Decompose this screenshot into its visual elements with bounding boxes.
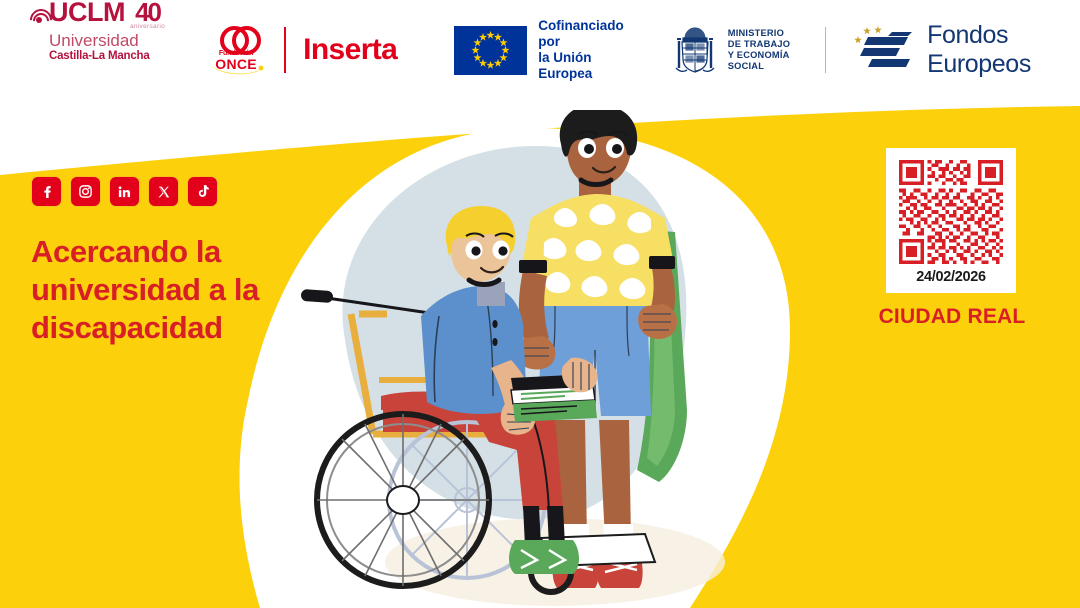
logo-ministerio-trabajo: MINISTERIO DE TRABAJO Y ECONOMÍA SOCIAL	[671, 0, 826, 100]
social-linkedin-link[interactable]	[109, 176, 140, 207]
logo-fundacion-once: Fundación ONCE	[205, 26, 267, 74]
logo-uclm: UCLM 40 aniversario Universidad Castilla…	[31, 0, 165, 100]
fondos-europeos-bars-icon	[852, 26, 914, 74]
event-city: CIUDAD REAL	[872, 305, 1032, 329]
divider-once-inserta	[284, 27, 286, 73]
page-headline: Acercando la universidad a la discapacid…	[31, 233, 291, 347]
ministerio-line3: Y ECONOMÍA SOCIAL	[728, 50, 803, 72]
logo-union-europea: Cofinanciado por la Unión Europea	[454, 0, 624, 100]
divider-ministerio-fondos	[825, 27, 826, 73]
inserta-label: Inserta	[303, 33, 397, 67]
social-tiktok-link[interactable]	[187, 176, 218, 207]
fondos-europeos-label: Fondos Europeos	[927, 21, 1080, 79]
social-links	[31, 176, 291, 207]
uclm-acronym: UCLM	[49, 0, 125, 25]
spain-coat-of-arms-icon	[671, 23, 719, 77]
logo-fondos-europeos: Fondos Europeos	[852, 0, 1080, 100]
tiktok-icon	[196, 184, 209, 199]
social-instagram-link[interactable]	[70, 176, 101, 207]
ministerio-line1: MINISTERIO	[728, 28, 803, 39]
qr-code[interactable]	[899, 160, 1003, 264]
instagram-icon	[78, 184, 93, 199]
logo-fundacion-once-inserta: Fundación ONCE Inserta	[205, 0, 397, 100]
once-interlocking-rings-icon	[220, 26, 253, 48]
two-students-one-wheelchair-illustration	[255, 110, 765, 608]
ministerio-line2: DE TRABAJO	[728, 39, 803, 50]
uclm-anniversary-label: aniversario	[130, 23, 165, 30]
once-swoosh-icon	[209, 67, 263, 74]
x-twitter-icon	[157, 185, 171, 199]
social-facebook-link[interactable]	[31, 176, 62, 207]
uclm-universidad-label: Universidad	[49, 31, 165, 50]
uclm-region-label: Castilla-La Mancha	[49, 50, 165, 63]
linkedin-icon	[117, 185, 132, 199]
uclm-anniversary-number: 40	[135, 0, 160, 24]
event-date: 24/02/2026	[916, 269, 986, 285]
uclm-signal-mark-icon	[31, 6, 48, 28]
eu-text-line1: Cofinanciado por	[538, 18, 624, 50]
facebook-icon	[40, 185, 54, 199]
sponsor-logo-header: UCLM 40 aniversario Universidad Castilla…	[0, 0, 1080, 100]
poster-canvas: UCLM 40 aniversario Universidad Castilla…	[0, 0, 1080, 608]
social-x-link[interactable]	[148, 176, 179, 207]
qr-info-card: 24/02/2026	[886, 148, 1016, 293]
left-content-column: Acercando la universidad a la discapacid…	[31, 176, 291, 347]
eu-flag-icon	[454, 26, 527, 75]
eu-text-line2: la Unión Europea	[538, 50, 624, 82]
